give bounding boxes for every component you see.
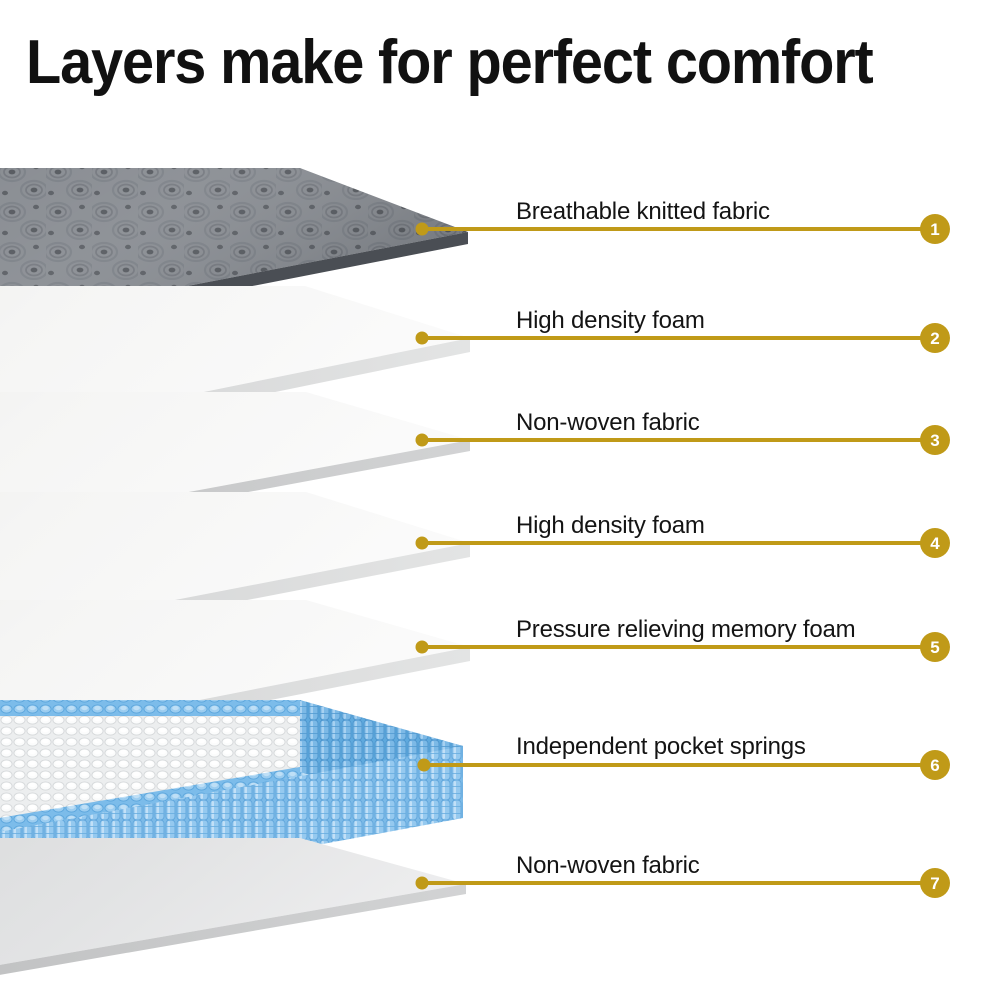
leader-line-2 — [416, 332, 923, 345]
leader-line-5 — [416, 641, 923, 654]
leader-line-4 — [416, 537, 923, 550]
infographic-canvas: Layers make for perfect comfort — [0, 0, 1000, 1000]
mattress-layers-illustration — [0, 0, 1000, 1000]
leader-line-7 — [416, 877, 923, 890]
leader-lines — [416, 223, 923, 890]
leader-line-6 — [418, 759, 923, 772]
leader-line-3 — [416, 434, 923, 447]
layer-nonwoven-fabric-7 — [0, 838, 466, 1000]
leader-line-1 — [416, 223, 923, 236]
